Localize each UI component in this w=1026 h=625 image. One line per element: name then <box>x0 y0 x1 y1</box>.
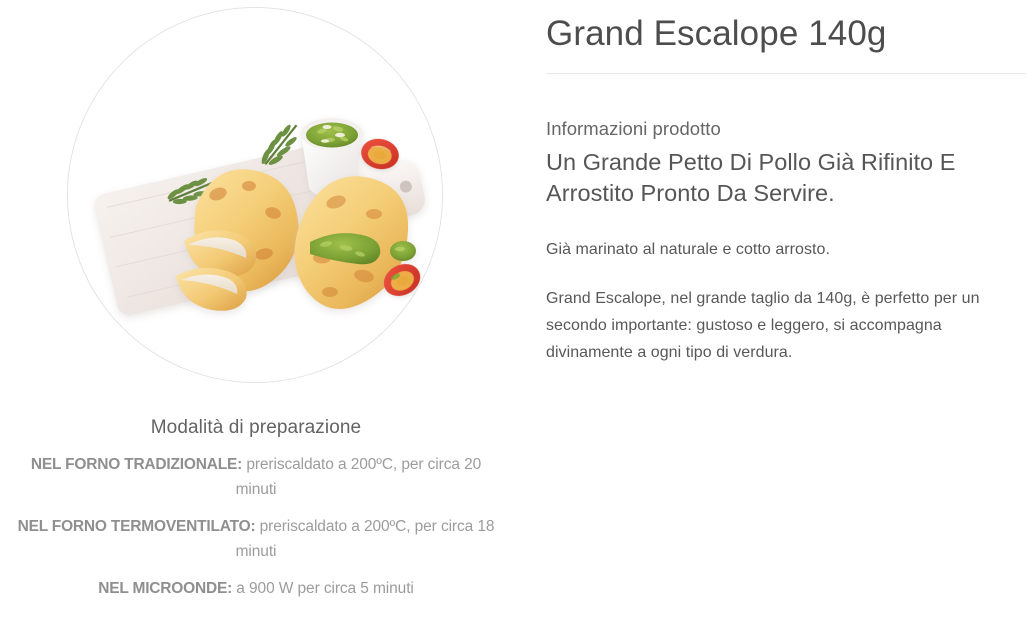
preparation-method-detail: preriscaldato a 200ºC, per circa 18 minu… <box>236 518 495 560</box>
product-description-paragraph: Grand Escalope, nel grande taglio da 140… <box>546 285 1026 366</box>
product-info-column: Grand Escalope 140g Informazioni prodott… <box>546 0 1026 625</box>
page-title: Grand Escalope 140g <box>546 0 1026 56</box>
product-description-paragraph: Già marinato al naturale e cotto arrosto… <box>546 236 1026 263</box>
preparation-method-label: NEL FORNO TERMOVENTILATO: <box>18 518 256 535</box>
preparation-method-label: NEL MICROONDE: <box>98 580 232 597</box>
preparation-method-detail: preriscaldato a 200ºC, per circa 20 minu… <box>236 456 482 498</box>
product-detail-page: Modalità di preparazione NEL FORNO TRADI… <box>0 0 1026 625</box>
product-headline: Un Grande Petto Di Pollo Già Rifinito E … <box>546 147 1026 209</box>
preparation-section: Modalità di preparazione NEL FORNO TRADI… <box>0 414 512 601</box>
product-image-circle-border <box>67 7 443 383</box>
product-image-frame <box>67 7 443 383</box>
product-photo <box>68 8 443 383</box>
preparation-heading: Modalità di preparazione <box>0 414 512 441</box>
title-divider <box>546 73 1026 74</box>
product-media-column: Modalità di preparazione NEL FORNO TRADI… <box>0 0 512 625</box>
preparation-method-microwave: NEL MICROONDE: a 900 W per circa 5 minut… <box>0 576 512 601</box>
preparation-method-detail: a 900 W per circa 5 minuti <box>232 580 414 597</box>
preparation-method-oven-fan: NEL FORNO TERMOVENTILATO: preriscaldato … <box>0 514 512 564</box>
product-info-label: Informazioni prodotto <box>546 116 1026 142</box>
preparation-method-label: NEL FORNO TRADIZIONALE: <box>31 456 242 473</box>
preparation-method-oven-traditional: NEL FORNO TRADIZIONALE: preriscaldato a … <box>0 452 512 502</box>
